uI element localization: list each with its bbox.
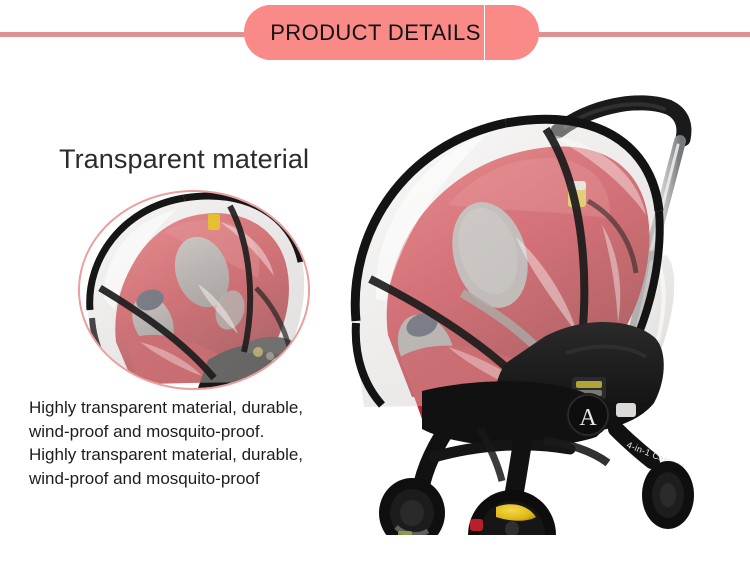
main-product-photo: A 4-in-1 Carseat <box>330 85 750 535</box>
feature-description: Highly transparent material, durable, wi… <box>29 396 379 490</box>
banner-cap-right <box>485 5 539 60</box>
closeup-inset-photo <box>78 190 310 390</box>
product-details-banner: PRODUCT DETAILS <box>0 0 750 72</box>
feature-description-line: wind-proof and mosquito-proof. <box>29 420 379 444</box>
feature-description-line: Highly transparent material, durable, <box>29 396 379 420</box>
feature-description-line: wind-proof and mosquito-proof <box>29 467 379 491</box>
feature-heading: Transparent material <box>59 144 309 175</box>
stroller-brand-logo-glyph: A <box>579 405 597 431</box>
stroller-illustration: A 4-in-1 Carseat <box>330 85 750 535</box>
closeup-inset-illustration <box>80 192 308 388</box>
banner-rule-left <box>0 32 248 37</box>
banner-rule-right <box>512 32 750 37</box>
banner-title: PRODUCT DETAILS <box>267 5 484 60</box>
feature-description-line: Highly transparent material, durable, <box>29 443 379 467</box>
